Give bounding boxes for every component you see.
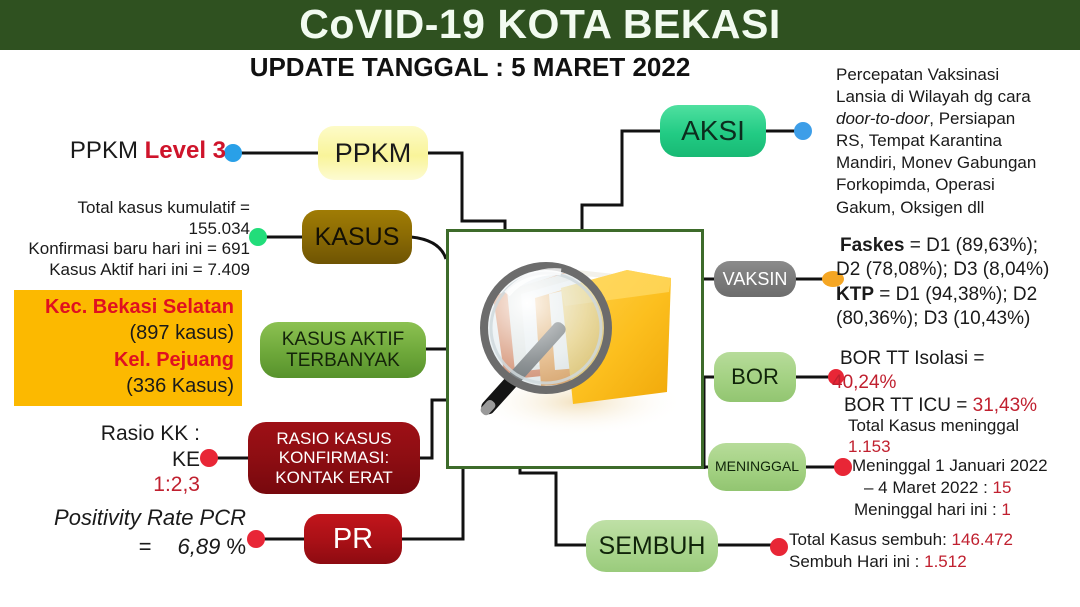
kasus-total-label: Total kasus kumulatif = [10, 198, 250, 219]
dot-ppkm [224, 144, 242, 162]
meninggal-today-value: 1 [1001, 500, 1010, 519]
vaksin-ktp-line1: = D1 (94,38%); D2 [874, 284, 1037, 305]
page-title: CoVID-19 KOTA BEKASI [0, 0, 1080, 50]
folders-magnifier-icon [449, 232, 701, 466]
node-sembuh-label: SEMBUH [599, 532, 706, 560]
node-rasio-line1: RASIO KASUS [276, 429, 391, 448]
positivity-rate-unit: % [226, 534, 246, 559]
node-kasus-label: KASUS [315, 223, 400, 251]
aksi-line-1: Percepatan Vaksinasi [836, 64, 1076, 86]
rasio-kk-ke-text: Rasio KK : KE 1:2,3 [20, 421, 200, 498]
kasus-total-value: 155.034 [10, 219, 250, 240]
positivity-rate-text: Positivity Rate PCR = 6,89 % [18, 505, 246, 561]
bor-icu-value: 31,43% [973, 395, 1037, 416]
meninggal-period-value: 15 [993, 478, 1012, 497]
aksi-line-2: Lansia di Wilayah dg cara [836, 86, 1076, 108]
dot-rasio [200, 449, 218, 467]
aksi-description-text: Percepatan Vaksinasi Lansia di Wilayah d… [836, 64, 1076, 219]
node-bor-label: BOR [731, 365, 779, 390]
node-kasus-aktif-line2: TERBANYAK [286, 350, 400, 371]
kel-pejuang-value: (336 Kasus) [18, 373, 234, 399]
node-vaksin[interactable]: VAKSIN [714, 261, 796, 297]
vaksin-ktp-label: KTP [836, 284, 874, 305]
aksi-line-5: Mandiri, Monev Gabungan [836, 152, 1076, 174]
vaksin-detail-text: Faskes = D1 (89,63%); D2 (78,08%); D3 (8… [836, 234, 1080, 331]
node-ppkm[interactable]: PPKM [318, 126, 428, 180]
infographic-canvas: CoVID-19 KOTA BEKASI UPDATE TANGGAL : 5 … [0, 0, 1080, 607]
ppkm-text-label: PPKM [70, 137, 138, 164]
vaksin-ktp-line2: (80,36%); D3 (10,43%) [836, 307, 1080, 331]
dot-pr [247, 530, 265, 548]
kasus-baru-line: Konfirmasi baru hari ini = 691 [10, 239, 250, 260]
node-kasus-aktif-line1: KASUS AKTIF [282, 329, 404, 350]
node-kasus-aktif-terbanyak[interactable]: KASUS AKTIF TERBANYAK [260, 322, 426, 378]
positivity-rate-label: Positivity Rate PCR [18, 505, 246, 532]
dot-kasus [249, 228, 267, 246]
rasio-kk-label: Rasio KK : [20, 421, 200, 447]
meninggal-total-label: Total Kasus meninggal [848, 415, 1080, 436]
node-aksi-label: AKSI [681, 115, 745, 146]
center-image-frame [446, 229, 704, 469]
sembuh-today-label: Sembuh Hari ini : [789, 552, 924, 571]
aksi-line-3: door-to-door, Persiapan [836, 108, 1076, 130]
dot-aksi [794, 122, 812, 140]
bor-isolasi-label: BOR TT Isolasi = [840, 347, 1080, 371]
node-rasio-kasus-konfirmasi[interactable]: RASIO KASUS KONFIRMASI: KONTAK ERAT [248, 422, 420, 494]
kasus-aktif-line: Kasus Aktif hari ini = 7.409 [10, 260, 250, 281]
aksi-line-4: RS, Tempat Karantina [836, 130, 1076, 152]
ppkm-level-text: PPKM Level 3 [40, 136, 226, 165]
sembuh-total-value: 146.472 [952, 530, 1013, 549]
node-aksi[interactable]: AKSI [660, 105, 766, 157]
meninggal-detail-text: Meninggal 1 Januari 2022 – 4 Maret 2022 … [852, 455, 1080, 521]
meninggal-total-text: Total Kasus meninggal 1.153 [848, 415, 1080, 458]
node-rasio-line3: KONTAK ERAT [275, 468, 392, 487]
kasus-summary-text: Total kasus kumulatif = 155.034 Konfirma… [10, 198, 250, 281]
node-ppkm-label: PPKM [335, 138, 412, 168]
sembuh-total-label: Total Kasus sembuh: [789, 530, 952, 549]
node-pr-label: PR [333, 523, 373, 555]
sembuh-detail-text: Total Kasus sembuh: 146.472 Sembuh Hari … [789, 529, 1079, 574]
meninggal-period-line2: – 4 Maret 2022 : [864, 478, 993, 497]
rasio-kk-ke-value: 1:2,3 [20, 472, 200, 498]
node-meninggal[interactable]: MENINGGAL [708, 443, 806, 491]
ppkm-level-value: Level 3 [145, 137, 226, 164]
node-kasus[interactable]: KASUS [302, 210, 412, 264]
dot-sembuh [770, 538, 788, 556]
bor-icu-label: BOR TT ICU = [844, 395, 973, 416]
kasus-aktif-terbanyak-box: Kec. Bekasi Selatan (897 kasus) Kel. Pej… [14, 290, 242, 406]
kec-bekasi-selatan-label: Kec. Bekasi Selatan [18, 294, 234, 320]
vaksin-faskes-line2: D2 (78,08%); D3 (8,04%) [836, 258, 1080, 282]
page-subtitle: UPDATE TANGGAL : 5 MARET 2022 [120, 52, 820, 83]
vaksin-faskes-line1: = D1 (89,63%); [904, 235, 1038, 256]
aksi-line-6: Forkopimda, Operasi [836, 174, 1076, 196]
bor-detail-text: BOR TT Isolasi = 40,24% BOR TT ICU = 31,… [840, 347, 1080, 418]
node-meninggal-label: MENINGGAL [715, 459, 799, 475]
aksi-line-7: Gakum, Oksigen dll [836, 197, 1076, 219]
kel-pejuang-label: Kel. Pejuang [18, 347, 234, 373]
positivity-rate-eq: = [138, 534, 151, 559]
meninggal-today-label: Meninggal hari ini : [854, 500, 1001, 519]
vaksin-faskes-label: Faskes [840, 235, 904, 256]
kec-bekasi-selatan-value: (897 kasus) [18, 320, 234, 346]
rasio-ke-label: KE [20, 447, 200, 473]
node-vaksin-label: VAKSIN [723, 269, 788, 289]
positivity-rate-value: 6,89 [177, 534, 220, 559]
node-sembuh[interactable]: SEMBUH [586, 520, 718, 572]
dot-meninggal [834, 458, 852, 476]
node-pr[interactable]: PR [304, 514, 402, 564]
node-rasio-line2: KONFIRMASI: [279, 448, 390, 467]
sembuh-today-value: 1.512 [924, 552, 967, 571]
bor-isolasi-value: 40,24% [832, 371, 1080, 395]
node-bor[interactable]: BOR [714, 352, 796, 402]
meninggal-period-line1: Meninggal 1 Januari 2022 [852, 455, 1080, 477]
